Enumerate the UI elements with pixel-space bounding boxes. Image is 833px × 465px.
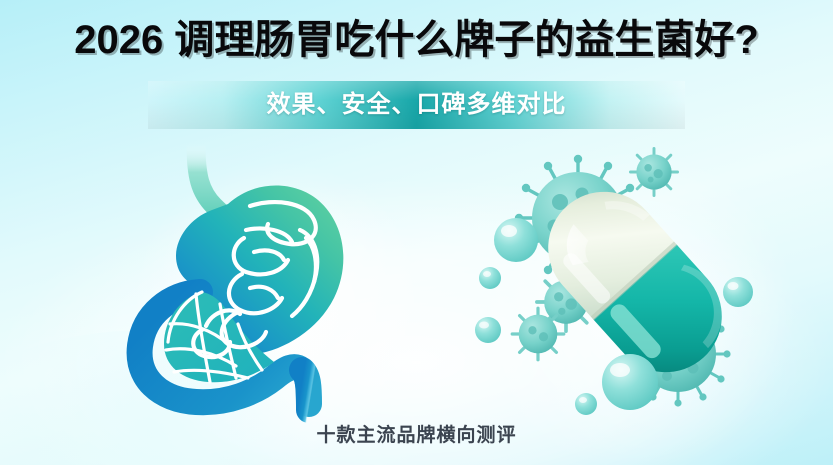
bubble-right	[723, 277, 753, 307]
microbe-small-left	[512, 308, 564, 360]
bubble-small-lower-left	[475, 317, 501, 343]
subtitle-ribbon: 效果、安全、口碑多维对比	[0, 81, 833, 129]
microbe-small-top	[630, 148, 677, 195]
capsule-illustration	[470, 132, 800, 432]
bubble-small-left	[479, 267, 501, 289]
stomach-illustration	[78, 142, 378, 414]
bubble-tiny-bottom	[575, 393, 597, 415]
bubble-large-left	[494, 218, 538, 262]
duodenum-fade-tip	[302, 370, 309, 410]
poster-canvas: 2026 调理肠胃吃什么牌子的益生菌好? 效果、安全、口碑多维对比 十款主流品牌…	[0, 0, 833, 465]
page-title: 2026 调理肠胃吃什么牌子的益生菌好?	[0, 14, 833, 66]
subtitle-text: 效果、安全、口碑多维对比	[0, 81, 833, 129]
bubble-large-bottom	[602, 354, 658, 410]
bottom-caption: 十款主流品牌横向测评	[0, 420, 833, 447]
